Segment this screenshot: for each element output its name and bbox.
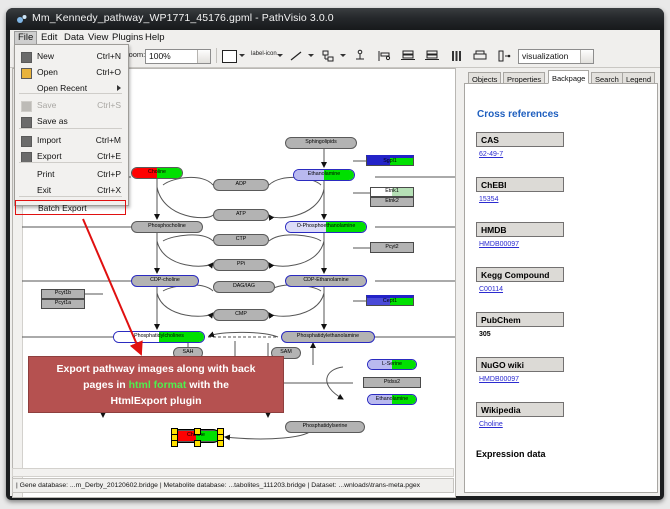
node-label: CDP-choline: [150, 278, 180, 283]
file-menu-item[interactable]: Batch Export: [15, 200, 126, 215]
anchor-icon[interactable]: [352, 48, 368, 64]
selection-handle[interactable]: [194, 428, 201, 435]
node-label: L-Serine: [382, 362, 402, 367]
submenu-arrow-icon: [117, 85, 121, 91]
file-menu-item-shortcut: Ctrl+N: [97, 51, 121, 61]
callout-line-2b: with the: [186, 379, 229, 391]
node-label: Sphingolipids: [305, 140, 337, 145]
expression-data-title: Expression data: [476, 449, 546, 459]
zoom-value: 100%: [149, 51, 171, 61]
file-menu-item: SaveCtrl+S: [15, 98, 126, 113]
selection-handle[interactable]: [171, 434, 178, 441]
save-disk-icon: [21, 101, 32, 112]
save-as-icon: [21, 117, 32, 128]
group-icon[interactable]: [424, 48, 440, 64]
xref-label: Wikipedia: [476, 402, 564, 417]
node-label: SAH: [183, 350, 194, 355]
line-dropdown-icon[interactable]: [308, 54, 314, 57]
new-document-icon: [21, 52, 32, 63]
metabolite-node[interactable]: Phosphocholine: [131, 221, 203, 233]
node-label: PPi: [237, 262, 245, 267]
callout-line-1: Export pathway images along with back: [29, 361, 283, 377]
xref-value: 305: [479, 331, 491, 338]
visualization-combo[interactable]: visualization: [518, 49, 594, 64]
gene-node[interactable]: Pcyt1a: [41, 299, 85, 309]
title-bar: Mm_Kennedy_pathway_WP1771_45176.gpml - P…: [6, 8, 664, 30]
label-dropdown-icon[interactable]: [277, 54, 283, 57]
selection-handle[interactable]: [217, 434, 224, 441]
file-menu-item-label: Print: [37, 169, 54, 179]
gene-node[interactable]: Etnk2: [370, 197, 414, 207]
xref-label: ChEBI: [476, 177, 564, 192]
interaction-icon[interactable]: [320, 48, 336, 64]
client-area: File Edit Data View Plugins Help Zoom: 1…: [10, 30, 660, 496]
interaction-dropdown-icon[interactable]: [340, 54, 346, 57]
gene-node[interactable]: Sgpl1: [366, 155, 414, 166]
xref-label: NuGO wiki: [476, 357, 564, 372]
metabolite-node[interactable]: CMP: [213, 309, 269, 321]
xref-label: CAS: [476, 132, 564, 147]
open-folder-icon: [21, 68, 32, 79]
xref-link[interactable]: HMDB00097: [479, 376, 519, 383]
toolbar-separator: [216, 48, 217, 63]
xref-link[interactable]: C00114: [479, 286, 503, 293]
visualization-combo-arrow[interactable]: [580, 50, 593, 63]
xref-label: HMDB: [476, 222, 564, 237]
xref-link[interactable]: HMDB00097: [479, 241, 519, 248]
node-label: Etnk1: [385, 189, 399, 194]
cross-references-title: Cross references: [477, 109, 559, 120]
gene-node[interactable]: Pcyt2: [370, 242, 414, 253]
xref-link[interactable]: 62-49-7: [479, 151, 503, 158]
node-label: Choline: [148, 170, 166, 175]
file-menu-item-label: New: [37, 51, 54, 61]
node-label: SAM: [280, 350, 291, 355]
metabolite-node[interactable]: L-Serine: [367, 359, 417, 370]
node-label: ADP: [236, 182, 247, 187]
selection-handle[interactable]: [171, 440, 178, 447]
xref-label: PubChem: [476, 312, 564, 327]
node-label: Phosphocholine: [148, 224, 186, 229]
callout-line-3: HtmlExport plugin: [29, 393, 283, 409]
file-menu-item-label: Export: [37, 151, 62, 161]
node-label: Phosphatidylserine: [303, 424, 348, 429]
line-icon[interactable]: [288, 48, 304, 64]
status-bar: | Gene database: ...m_Derby_20120602.bri…: [12, 478, 454, 493]
gene-node[interactable]: Cept1: [366, 295, 414, 306]
metabolite-node[interactable]: CDP-Ethanolamine: [285, 275, 367, 287]
metabolite-node[interactable]: O-Phosphoethanolamine: [285, 221, 367, 233]
datanode-icon[interactable]: [222, 50, 237, 63]
node-label: Phosphatidylcholines: [134, 334, 184, 339]
file-menu-item-label: Batch Export: [38, 203, 87, 213]
pathvisio-app-icon: [16, 14, 27, 25]
window-title: Mm_Kennedy_pathway_WP1771_45176.gpml - P…: [32, 12, 334, 24]
file-menu-item-label: Open Recent: [37, 83, 87, 93]
metabolite-node[interactable]: CTP: [213, 234, 269, 246]
node-label: Phosphatidylethanolamine: [297, 334, 359, 339]
metabolite-node[interactable]: DAG/IAG: [213, 281, 275, 293]
callout-highlight: html format: [129, 379, 187, 391]
zoom-combo-arrow[interactable]: [197, 50, 210, 63]
file-menu-separator-2: [19, 128, 122, 129]
file-menu-item-label: Open: [37, 67, 58, 77]
metabolite-node[interactable]: Sphingolipids: [285, 137, 357, 149]
node-label: CTP: [236, 237, 247, 242]
gene-node[interactable]: Ptdss2: [363, 377, 421, 388]
file-menu-item[interactable]: ImportCtrl+M: [15, 133, 126, 148]
node-label: Etnk2: [385, 199, 399, 204]
stack-icon[interactable]: [400, 48, 416, 64]
file-menu-item-label: Import: [37, 135, 61, 145]
node-label: Ptdss2: [384, 380, 400, 385]
node-label: O-Phosphoethanolamine: [297, 224, 356, 229]
metabolite-node[interactable]: ADP: [213, 179, 269, 191]
metabolite-node[interactable]: Choline: [173, 430, 219, 442]
menu-edit[interactable]: Edit: [37, 31, 61, 45]
file-menu-item[interactable]: NewCtrl+N: [15, 49, 126, 64]
backpage-content[interactable]: Cross references CAS62-49-7ChEBI15354HMD…: [464, 83, 658, 493]
metabolite-node[interactable]: Phosphatidylserine: [285, 421, 365, 433]
file-menu-item-shortcut: Ctrl+M: [96, 135, 121, 145]
node-label: Pcyt2: [385, 245, 398, 250]
node-label: DAG/IAG: [233, 284, 255, 289]
file-menu-item-shortcut: Ctrl+O: [96, 67, 121, 77]
file-menu-item-shortcut: Ctrl+X: [97, 185, 121, 195]
metabolite-node[interactable]: ATP: [213, 209, 269, 221]
file-menu-item[interactable]: PrintCtrl+P: [15, 167, 126, 182]
file-menu-item-shortcut: Ctrl+S: [97, 100, 121, 110]
node-label: Cept1: [383, 299, 397, 304]
node-label: ATP: [236, 212, 246, 217]
metabolite-node[interactable]: Phosphatidylcholines: [113, 331, 205, 343]
file-menu-item[interactable]: Save as: [15, 114, 126, 129]
visualization-value: visualization: [522, 51, 568, 61]
side-panel-tabs: Objects Properties Backpage Search Legen…: [464, 70, 658, 84]
file-menu-item-label: Exit: [37, 185, 51, 195]
metabolite-node[interactable]: Choline: [131, 167, 183, 179]
xref-link[interactable]: Choline: [479, 421, 503, 428]
file-menu-item-label: Save: [37, 100, 56, 110]
selection-handle[interactable]: [217, 440, 224, 447]
xref-label: Kegg Compound: [476, 267, 564, 282]
metabolite-node[interactable]: PPi: [213, 259, 269, 271]
layout-icon[interactable]: [496, 48, 512, 64]
callout-line-2a: pages in: [83, 379, 129, 391]
menu-help[interactable]: Help: [141, 31, 169, 45]
selection-handle[interactable]: [194, 440, 201, 447]
metabolite-node[interactable]: Phosphatidylethanolamine: [281, 331, 375, 343]
panel-resize-grip[interactable]: [458, 70, 463, 476]
gene-node[interactable]: Etnk1: [370, 187, 414, 197]
canvas-horizontal-scrollbar[interactable]: [12, 468, 454, 477]
tab-backpage[interactable]: Backpage: [548, 70, 589, 84]
side-panel: Objects Properties Backpage Search Legen…: [458, 68, 658, 496]
metabolite-node[interactable]: CDP-choline: [131, 275, 199, 287]
xref-link[interactable]: 15354: [479, 196, 498, 203]
gene-node[interactable]: Pcyt1b: [41, 289, 85, 299]
node-label: Ethanolamine: [308, 172, 340, 177]
node-label: Ethanolamine: [376, 397, 408, 402]
metabolite-node[interactable]: Ethanolamine: [293, 169, 355, 181]
zoom-combo[interactable]: 100%: [145, 49, 211, 64]
file-menu-item-shortcut: Ctrl+E: [97, 151, 121, 161]
node-label: CMP: [235, 312, 247, 317]
file-menu-dropdown[interactable]: NewCtrl+NOpenCtrl+OOpen RecentSaveCtrl+S…: [14, 44, 129, 206]
datanode-dropdown-icon[interactable]: [239, 54, 245, 57]
node-label: Pcyt1b: [55, 291, 71, 296]
metabolite-node[interactable]: Ethanolamine: [367, 394, 417, 405]
print-icon[interactable]: [472, 48, 488, 64]
align-icon[interactable]: [376, 48, 392, 64]
order-icon[interactable]: [448, 48, 464, 64]
file-menu-item-shortcut: Ctrl+P: [97, 169, 121, 179]
file-menu-separator-1: [19, 93, 122, 94]
node-label: CDP-Ethanolamine: [303, 278, 348, 283]
application-window: Mm_Kennedy_pathway_WP1771_45176.gpml - P…: [6, 8, 664, 500]
label-tool-label[interactable]: label-icon: [251, 51, 277, 57]
file-menu-item-label: Save as: [37, 116, 68, 126]
annotation-callout: Export pathway images along with back pa…: [28, 356, 284, 413]
node-label: Pcyt1a: [55, 301, 71, 306]
callout-line-2: pages in html format with the: [29, 377, 283, 393]
file-menu-separator-3: [19, 162, 122, 163]
node-label: Sgpl1: [383, 159, 397, 164]
file-menu-item[interactable]: OpenCtrl+O: [15, 65, 126, 80]
import-icon: [21, 136, 32, 147]
file-menu-separator-4: [19, 196, 122, 197]
